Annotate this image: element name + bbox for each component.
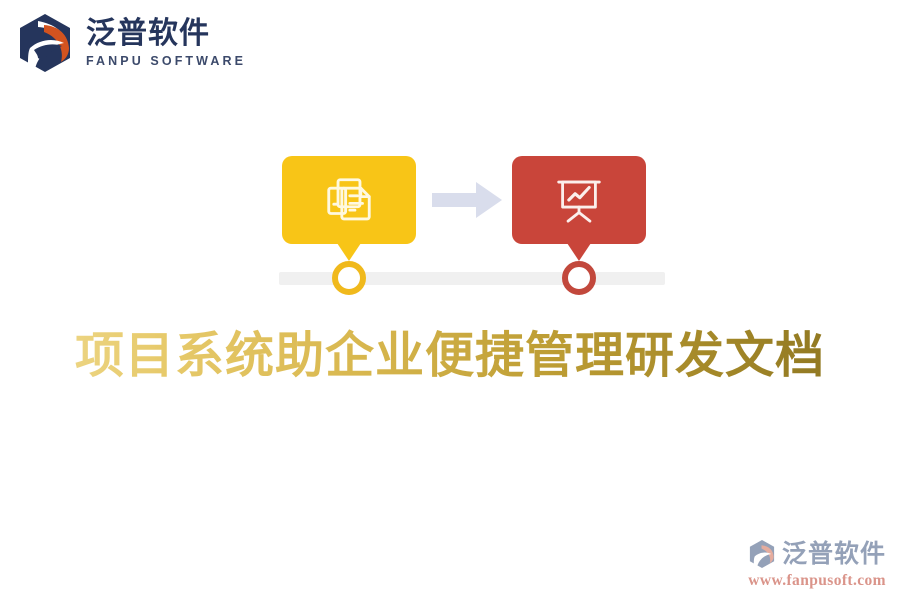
step-2-bubble[interactable]: [512, 156, 646, 244]
documents-icon: [322, 173, 376, 227]
watermark-url: www.fanpusoft.com: [748, 571, 886, 590]
watermark: 泛普软件 www.fanpusoft.com: [747, 539, 886, 590]
timeline-node-2[interactable]: [562, 261, 596, 295]
brand-text-block: 泛普软件 FANPU SOFTWARE: [86, 16, 246, 71]
watermark-name: 泛普软件: [782, 541, 886, 566]
brand-name-cn: 泛普软件: [86, 18, 246, 50]
process-diagram: [0, 148, 900, 298]
presentation-chart-icon: [554, 175, 604, 225]
fanpu-hexagon-logo-icon: [14, 12, 76, 74]
right-arrow-icon: [432, 180, 502, 220]
fanpu-hexagon-logo-icon: [747, 539, 777, 569]
page-title: 项目系统助企业便捷管理研发文档: [0, 316, 900, 387]
watermark-logo-row: 泛普软件: [747, 539, 886, 569]
timeline-node-1[interactable]: [332, 261, 366, 295]
brand-name-en: FANPU SOFTWARE: [86, 52, 246, 71]
brand-header: 泛普软件 FANPU SOFTWARE: [14, 12, 246, 74]
step-1-bubble[interactable]: [282, 156, 416, 244]
